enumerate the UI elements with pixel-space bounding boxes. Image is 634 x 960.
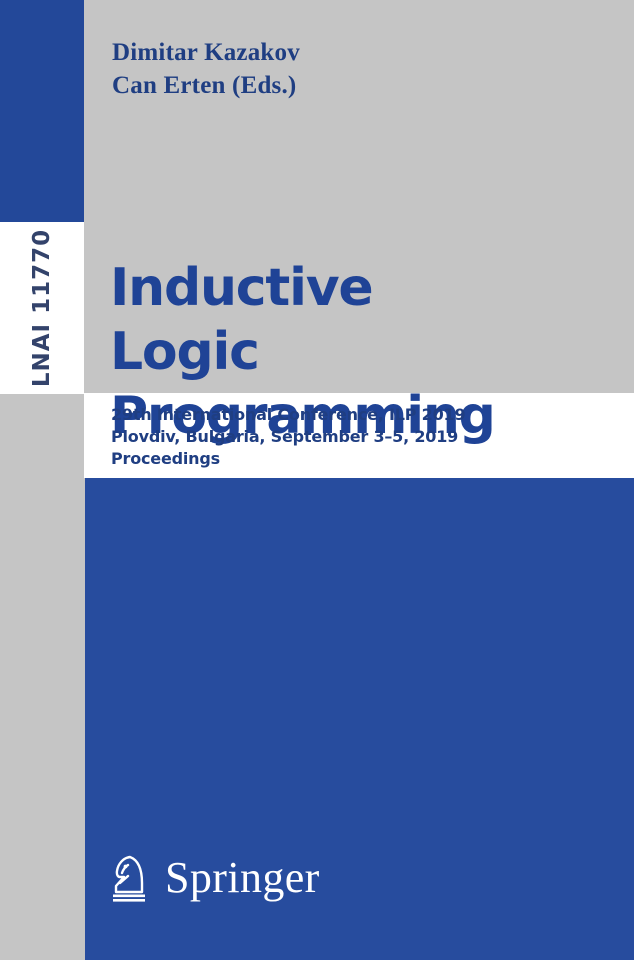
subtitle-line-3: Proceedings xyxy=(111,448,611,470)
title-line-1: Inductive xyxy=(110,256,620,320)
series-label: LNAI 11770 xyxy=(0,222,84,394)
subtitle-block: 29th International Conference, ILP 2019 … xyxy=(111,404,611,470)
publisher-logo: Springer xyxy=(107,852,320,904)
book-cover: Dimitar Kazakov Can Erten (Eds.) LNAI 11… xyxy=(0,0,634,960)
editor-name-2: Can Erten (Eds.) xyxy=(112,69,300,102)
cover-spine-blue-block xyxy=(0,0,84,222)
editor-name-1: Dimitar Kazakov xyxy=(112,36,300,69)
series-label-text: LNAI 11770 xyxy=(29,229,55,387)
editors-block: Dimitar Kazakov Can Erten (Eds.) xyxy=(112,36,300,102)
cover-left-gray-strip xyxy=(0,394,84,960)
subtitle-line-2: Plovdiv, Bulgaria, September 3–5, 2019 xyxy=(111,426,611,448)
publisher-name: Springer xyxy=(165,856,320,900)
springer-knight-icon xyxy=(107,852,153,904)
subtitle-line-1: 29th International Conference, ILP 2019 xyxy=(111,404,611,426)
